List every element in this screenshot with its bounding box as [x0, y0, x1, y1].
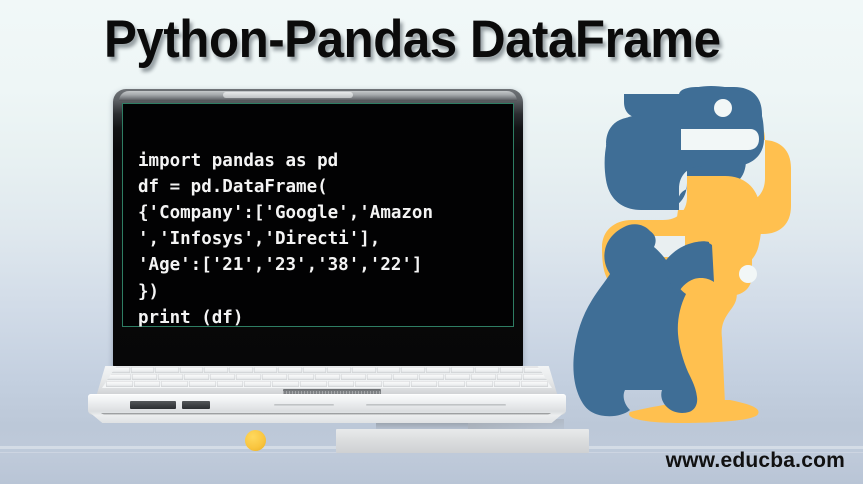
- laptop-port: [130, 401, 176, 409]
- keyboard-key: [300, 381, 327, 387]
- keyboard-key: [475, 367, 499, 373]
- python-eye-blue: [714, 99, 732, 117]
- keyboard-key: [180, 367, 204, 373]
- keyboard-key: [132, 374, 157, 380]
- slide-canvas: Python-Pandas DataFrame import pandas as…: [0, 0, 863, 484]
- keyboard-key: [229, 367, 253, 373]
- keyboard-key: [426, 367, 450, 373]
- keyboard-key: [352, 367, 376, 373]
- keyboard-key: [451, 367, 475, 373]
- keyboard-row: [102, 374, 552, 380]
- keyboard-key: [204, 367, 228, 373]
- laptop-vent: [274, 404, 334, 406]
- keyboard-key: [236, 374, 261, 380]
- keyboard-key: [466, 381, 493, 387]
- keyboard-key: [411, 381, 438, 387]
- keyboard-key: [155, 367, 179, 373]
- keyboard-key: [500, 367, 524, 373]
- keyboard-key: [341, 374, 366, 380]
- keyboard-key: [158, 374, 183, 380]
- keyboard-key: [367, 374, 392, 380]
- keyboard-key: [355, 381, 382, 387]
- laptop-port: [182, 401, 210, 409]
- keyboard-key: [131, 367, 155, 373]
- keyboard-key: [497, 374, 522, 380]
- keyboard-key: [134, 381, 161, 387]
- keyboard-row: [102, 367, 552, 373]
- keyboard-key: [278, 367, 302, 373]
- python-pandas-logo: [562, 82, 804, 438]
- keyboard-key: [521, 381, 548, 387]
- keyboard-key: [327, 367, 351, 373]
- keyboard-key: [189, 381, 216, 387]
- laptop-keyboard: [102, 366, 552, 388]
- keyboard-key: [272, 381, 299, 387]
- keyboard-key: [161, 381, 188, 387]
- keyboard-key: [419, 374, 444, 380]
- laptop-base-foot: [88, 411, 566, 423]
- bezel-brand-plate: [336, 429, 589, 453]
- keyboard-key: [244, 381, 271, 387]
- keyboard-key: [262, 374, 287, 380]
- watermark-url: www.educba.com: [666, 449, 845, 473]
- keyboard-key: [445, 374, 470, 380]
- keyboard-key: [184, 374, 209, 380]
- keyboard-key: [210, 374, 235, 380]
- lid-top-gloss: [223, 92, 353, 98]
- terminal-code-text: import pandas as pd df = pd.DataFrame( {…: [138, 148, 510, 331]
- power-indicator-led: [245, 430, 266, 451]
- keyboard-key: [303, 367, 327, 373]
- laptop-vent: [366, 404, 506, 406]
- keyboard-key: [393, 374, 418, 380]
- keyboard-key: [438, 381, 465, 387]
- keyboard-key: [471, 374, 496, 380]
- keyboard-row: [102, 381, 552, 387]
- keyboard-key: [328, 381, 355, 387]
- laptop-base: [88, 366, 566, 423]
- keyboard-key: [383, 381, 410, 387]
- keyboard-key: [401, 367, 425, 373]
- keyboard-key: [288, 374, 313, 380]
- keyboard-key: [254, 367, 278, 373]
- keyboard-key: [217, 381, 244, 387]
- keyboard-key: [106, 381, 133, 387]
- keyboard-key: [315, 374, 340, 380]
- keyboard-key: [377, 367, 401, 373]
- keyboard-key: [494, 381, 521, 387]
